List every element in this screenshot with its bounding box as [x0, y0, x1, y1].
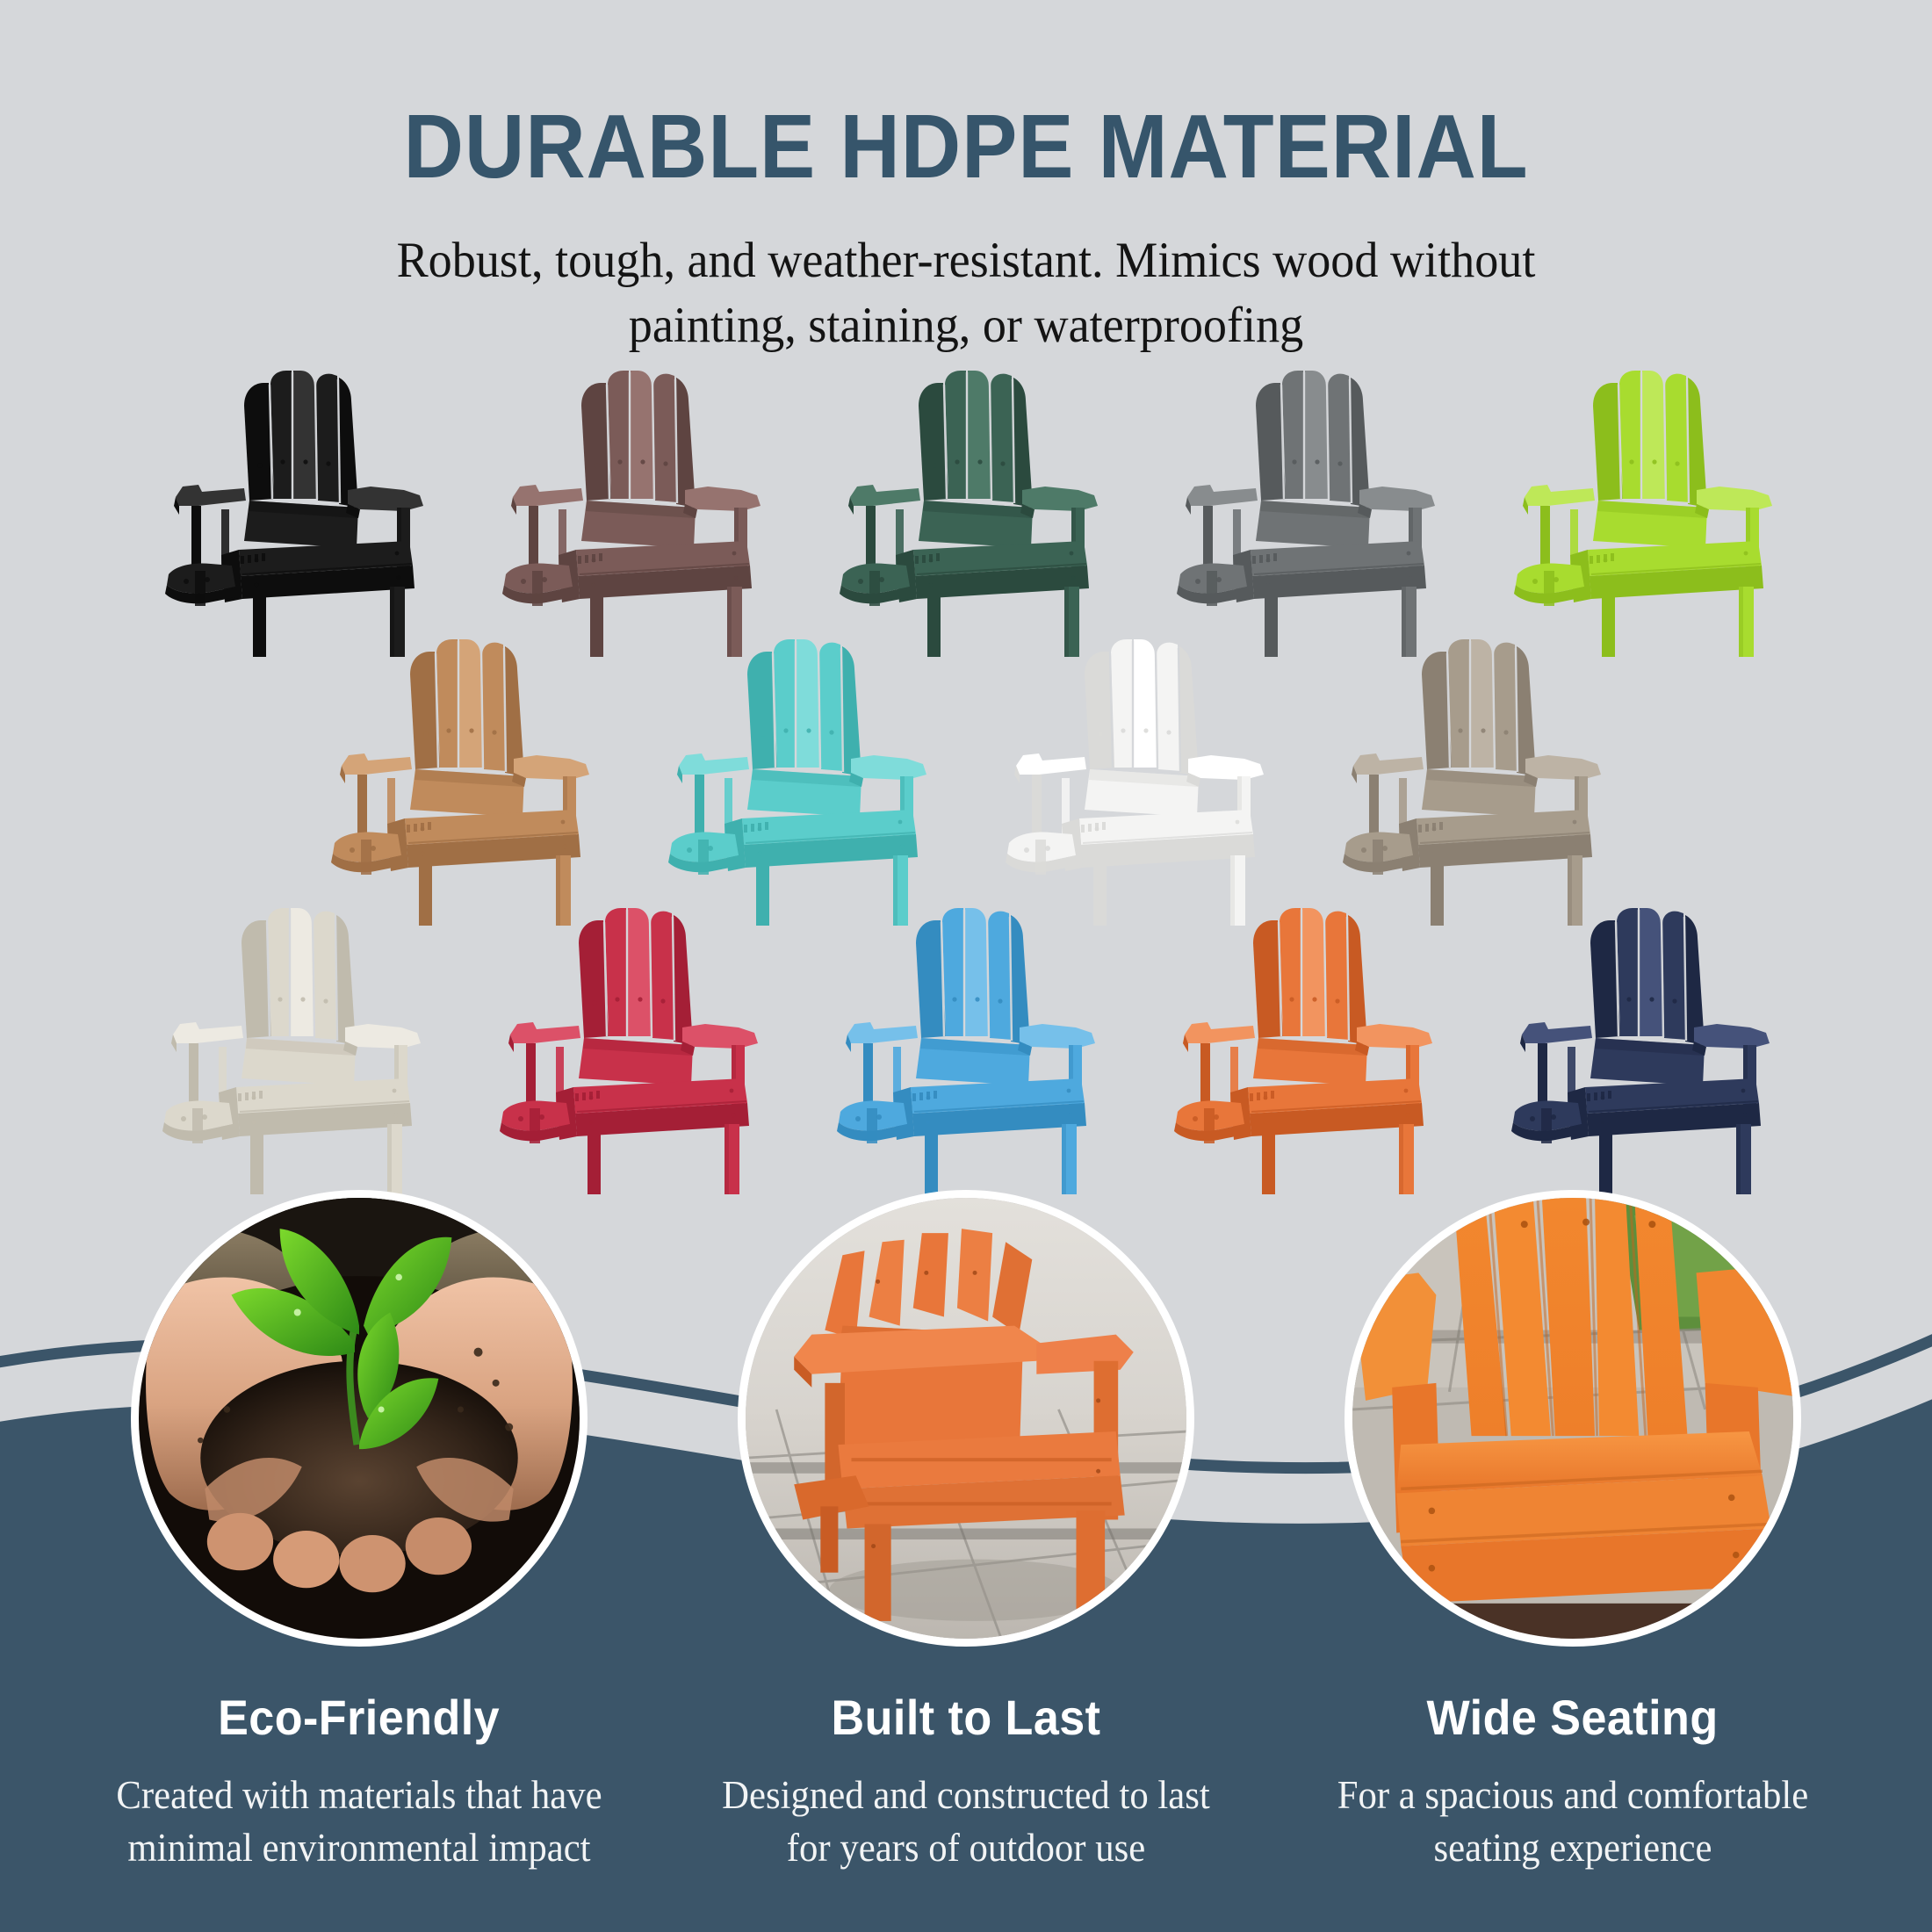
adirondack-chair-orange [1150, 905, 1457, 1194]
feature-image-eco-friendly [131, 1190, 588, 1647]
feature-wide-seating: Wide Seating For a spacious and comforta… [1334, 1190, 1813, 1875]
chair-color-grid [0, 367, 1932, 1194]
adirondack-chair-navy [1487, 905, 1794, 1194]
hands-holding-seedling-icon [139, 1198, 580, 1639]
header: DURABLE HDPE MATERIAL Robust, tough, and… [0, 0, 1932, 358]
adirondack-chair-black [141, 367, 448, 657]
chair-swatch-gray[interactable] [1152, 367, 1460, 657]
chair-row-3 [0, 905, 1932, 1194]
feature-title: Eco-Friendly [218, 1689, 500, 1746]
features-section: Eco-Friendly Created with materials that… [0, 1190, 1932, 1875]
feature-row: Eco-Friendly Created with materials that… [0, 1190, 1932, 1875]
feature-description: For a spacious and comfortable seating e… [1306, 1769, 1840, 1875]
adirondack-chair-white [981, 636, 1288, 926]
feature-image-wide-seating [1344, 1190, 1801, 1647]
page-title: DURABLE HDPE MATERIAL [77, 0, 1855, 198]
feature-title: Wide Seating [1427, 1689, 1719, 1746]
chair-swatch-red[interactable] [475, 905, 782, 1194]
chair-swatch-orange[interactable] [1150, 905, 1457, 1194]
feature-description: Created with materials that have minimal… [92, 1769, 626, 1875]
adirondack-chair-sky-blue [812, 905, 1120, 1194]
adirondack-chair-mauve [478, 367, 785, 657]
chair-swatch-sky-blue[interactable] [812, 905, 1120, 1194]
adirondack-chair-gray [1152, 367, 1460, 657]
chair-row-1 [0, 367, 1932, 657]
adirondack-chair-taupe [1318, 636, 1626, 926]
adirondack-chair-dark-green [815, 367, 1122, 657]
feature-title: Built to Last [832, 1689, 1101, 1746]
chair-swatch-turquoise[interactable] [644, 636, 951, 926]
chair-swatch-white[interactable] [981, 636, 1288, 926]
chair-swatch-ivory[interactable] [138, 905, 445, 1194]
page-subtitle: Robust, tough, and weather-resistant. Mi… [315, 198, 1617, 358]
feature-built-to-last: Built to Last Designed and constructed t… [727, 1190, 1206, 1875]
adirondack-chair-lime-green [1489, 367, 1797, 657]
chair-row-2 [0, 636, 1932, 926]
chair-swatch-black[interactable] [141, 367, 448, 657]
feature-eco-friendly: Eco-Friendly Created with materials that… [120, 1190, 599, 1875]
chair-swatch-lime-green[interactable] [1489, 367, 1797, 657]
feature-description: Designed and constructed to last for yea… [699, 1769, 1233, 1875]
feature-image-built-to-last [738, 1190, 1194, 1647]
infographic-page: DURABLE HDPE MATERIAL Robust, tough, and… [0, 0, 1932, 1932]
chair-swatch-dark-green[interactable] [815, 367, 1122, 657]
chair-swatch-taupe[interactable] [1318, 636, 1626, 926]
adirondack-chair-turquoise [644, 636, 951, 926]
adirondack-chair-red [475, 905, 782, 1194]
chair-swatch-navy[interactable] [1487, 905, 1794, 1194]
orange-chair-patio-photo [746, 1198, 1186, 1639]
chair-swatch-mauve[interactable] [478, 367, 785, 657]
chair-swatch-teak[interactable] [306, 636, 614, 926]
adirondack-chair-ivory [138, 905, 445, 1194]
adirondack-chair-teak [306, 636, 614, 926]
orange-chair-seat-closeup-photo [1352, 1198, 1793, 1639]
